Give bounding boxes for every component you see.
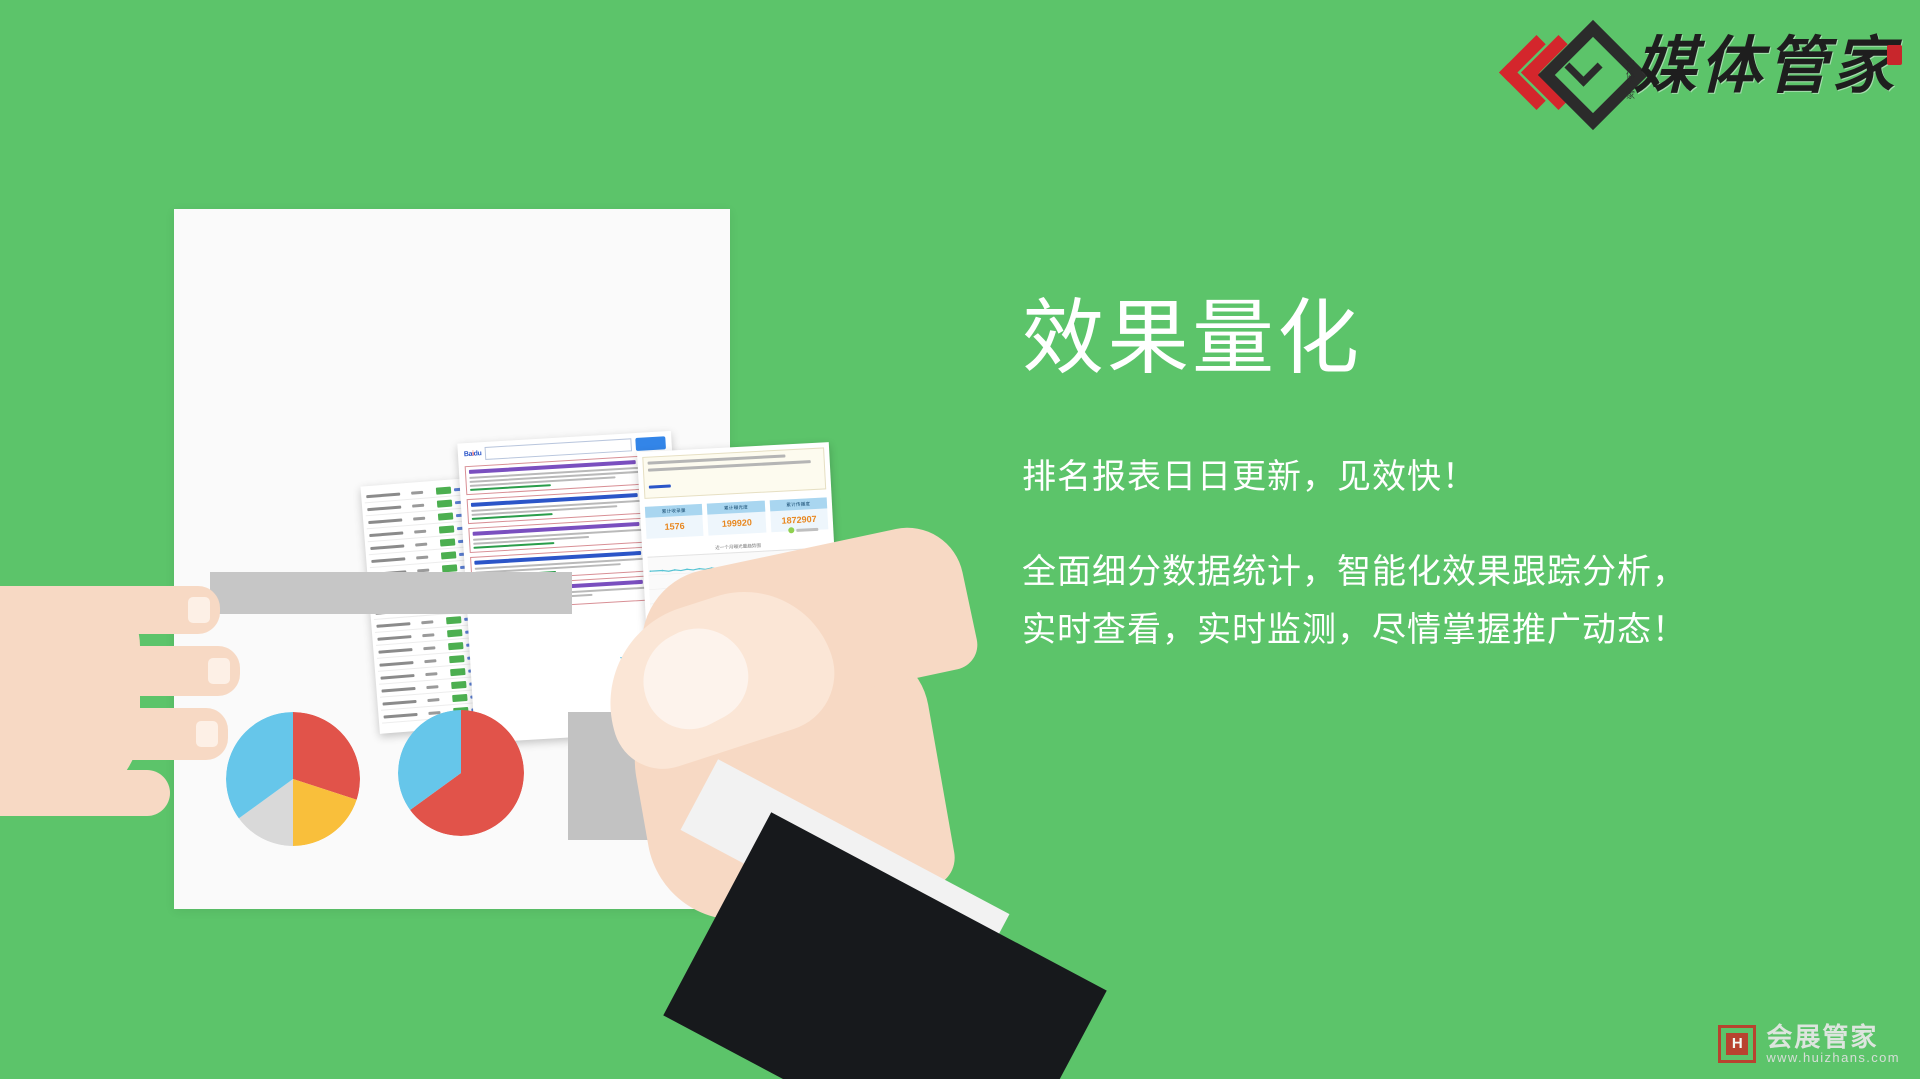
placeholder-title-bar (210, 572, 572, 614)
dashboard-note (642, 447, 826, 498)
page-title: 效果量化 (1022, 296, 1862, 382)
stat-value: 1576 (645, 515, 703, 539)
body-line-1: 全面细分数据统计，智能化效果跟踪分析， (1022, 543, 1862, 601)
stat-card: 累计收录量 1576 (645, 504, 704, 539)
watermark: H 会展管家 www.huizhans.com (1718, 1023, 1900, 1065)
left-hand-finger (0, 586, 220, 634)
report-pie-right (398, 710, 524, 836)
slide-canvas: 媒体管家 媒体管家 (0, 0, 1920, 1079)
report-pie-left (226, 712, 360, 846)
watermark-title: 会展管家 (1766, 1023, 1900, 1051)
red-seal-icon (1887, 45, 1902, 65)
chart-legend (788, 526, 818, 534)
left-hand-thumb (0, 770, 170, 816)
brand-name-label: 媒体管家 (1634, 35, 1898, 97)
chevron-diamond-icon: 媒体管家 (1508, 28, 1620, 104)
right-hand-with-pencil (600, 600, 1300, 1079)
search-button[interactable] (635, 436, 666, 451)
brand-logo: 媒体管家 媒体管家 (1508, 24, 1898, 108)
legend-dot-icon (788, 527, 794, 533)
stat-value: 199920 (708, 512, 766, 536)
left-hand-finger (0, 646, 240, 696)
stat-card: 累计曝光度 199920 (707, 501, 766, 536)
body-line-2: 实时查看，实时监测，尽情掌握推广动态！ (1022, 601, 1862, 659)
huizhans-badge-icon: H (1718, 1025, 1756, 1063)
copy-block: 效果量化 排名报表日日更新，见效快！ 全面细分数据统计，智能化效果跟踪分析， 实… (1022, 296, 1862, 660)
badge-letter: H (1726, 1033, 1748, 1055)
lead-paragraph: 排名报表日日更新，见效快！ (1022, 448, 1862, 506)
watermark-url: www.huizhans.com (1766, 1051, 1900, 1065)
baidu-logo-icon: Baidu (464, 450, 482, 458)
left-hand-finger (0, 708, 228, 760)
